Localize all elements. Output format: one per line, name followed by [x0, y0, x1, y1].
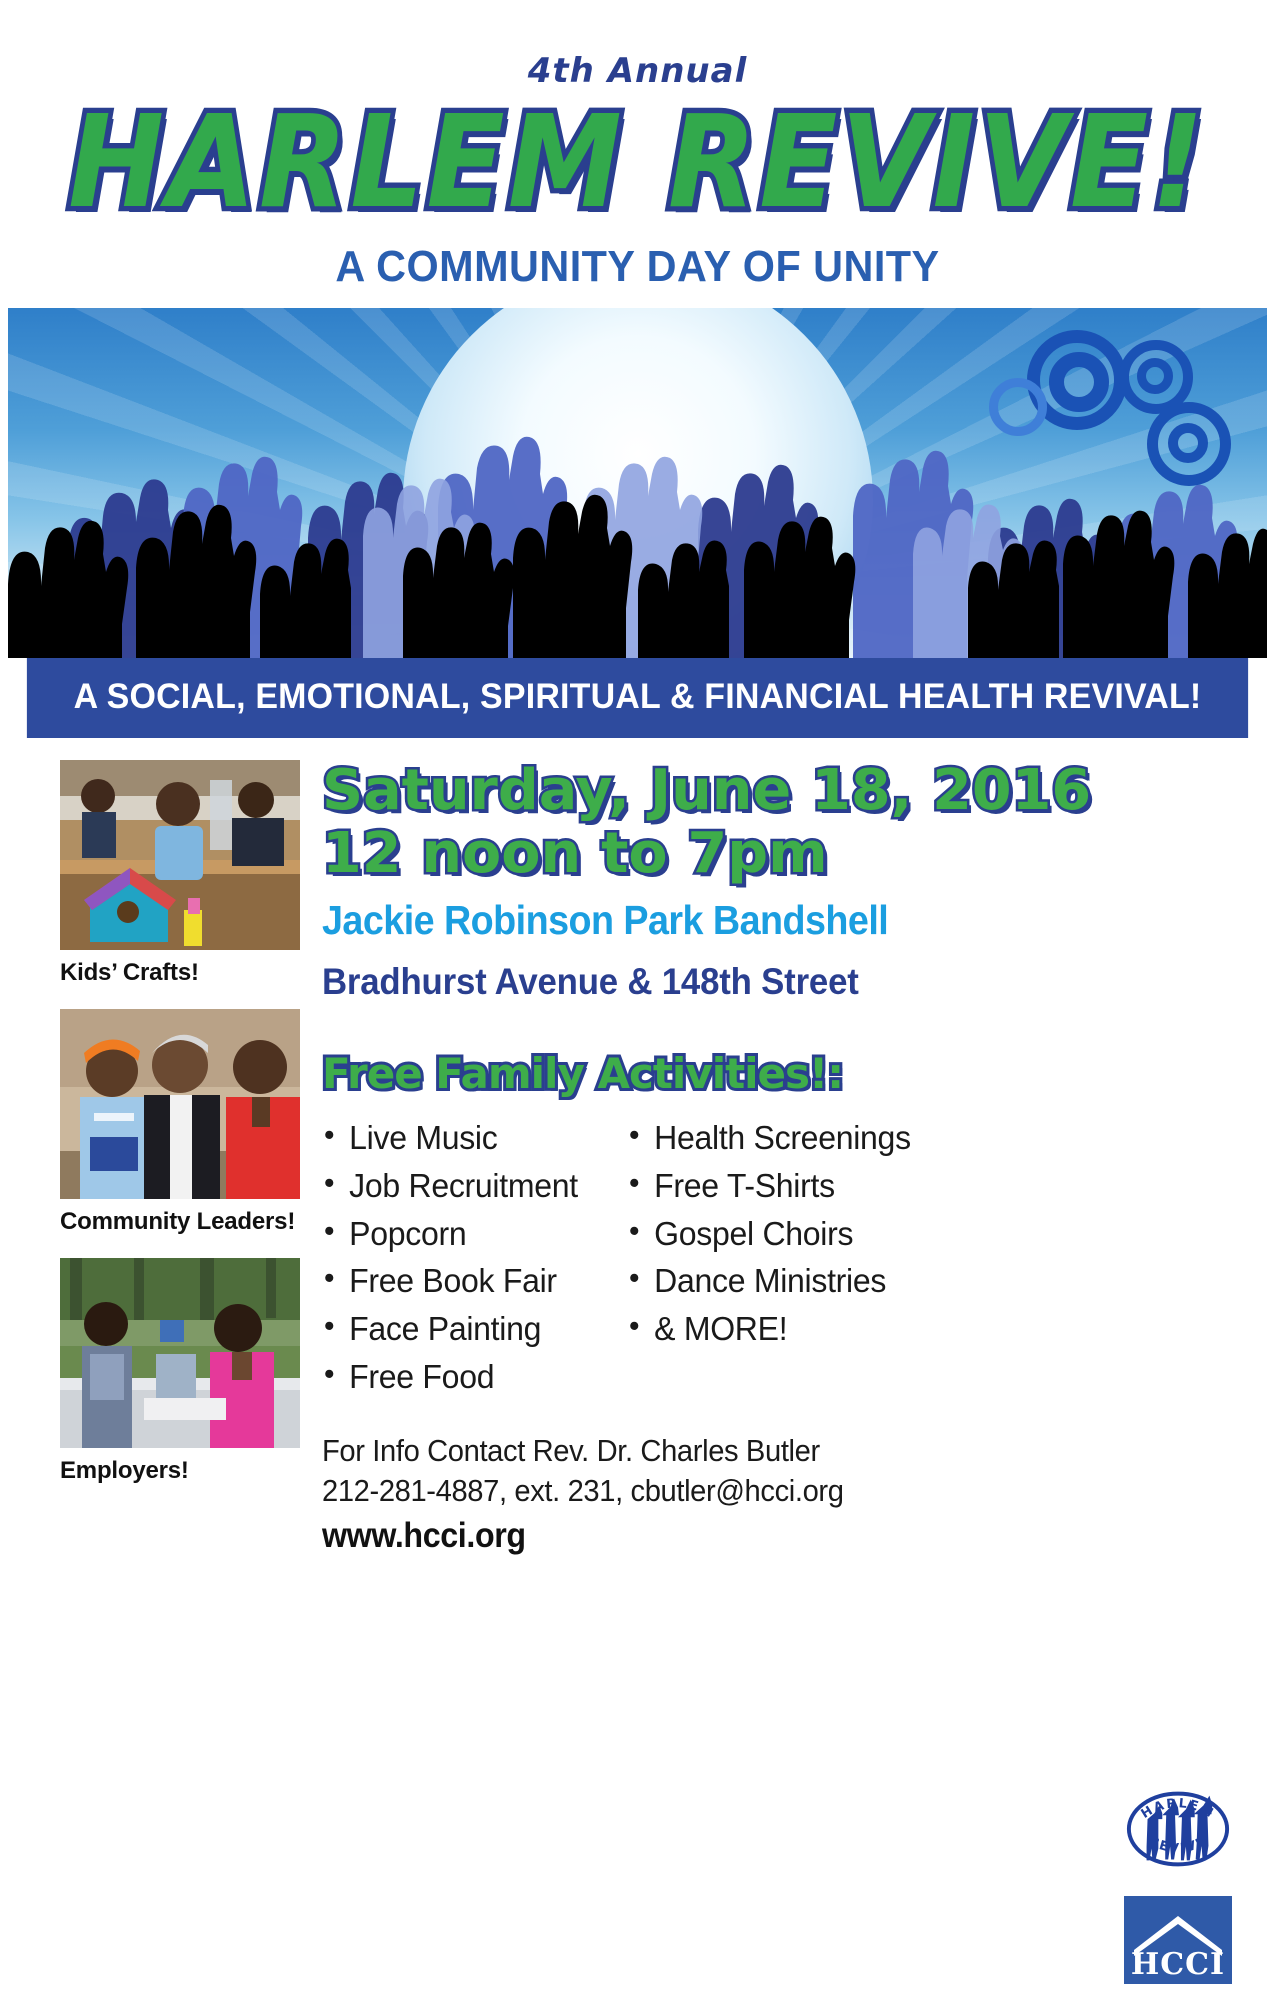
photo-caption: Community Leaders!	[60, 1199, 300, 1250]
content-column: Saturday, June 18, 2016 12 noon to 7pm J…	[322, 760, 1247, 1556]
list-item: Free T-Shirts	[627, 1162, 918, 1210]
event-date: Saturday, June 18, 2016	[322, 760, 1266, 823]
activities-column-left: Live Music Job Recruitment Popcorn Free …	[322, 1114, 627, 1401]
list-item: Gospel Choirs	[627, 1210, 918, 1258]
photo-block-employers: Employers!	[60, 1258, 300, 1499]
list-item: Job Recruitment	[322, 1162, 618, 1210]
list-item: Face Painting	[322, 1305, 618, 1353]
activity-list-right: Health Screenings Free T-Shirts Gospel C…	[627, 1114, 927, 1353]
poster-body: Kids’ Crafts!	[0, 760, 1275, 1556]
hcci-logo-icon: HCCI	[1122, 1894, 1234, 1986]
photo-column: Kids’ Crafts!	[60, 760, 300, 1556]
harlem-revive-logo-icon: HARLEM REVIVE	[1119, 1774, 1237, 1884]
website-link[interactable]: www.hcci.org	[322, 1516, 1173, 1556]
photo-block-community-leaders: Community Leaders!	[60, 1009, 300, 1250]
event-address: Bradhurst Avenue & 148th Street	[322, 959, 1192, 1005]
photo-caption: Kids’ Crafts!	[60, 950, 300, 1001]
list-item: Popcorn	[322, 1210, 618, 1258]
svg-text:HCCI: HCCI	[1131, 1947, 1225, 1982]
list-item: Dance Ministries	[627, 1257, 918, 1305]
contact-phone-email: 212-281-4887, ext. 231, cbutler@hcci.org	[322, 1471, 1192, 1511]
kids-crafts-photo	[60, 760, 300, 950]
activities-heading: Free Family Activities!:	[322, 1049, 1247, 1098]
page-title: HARLEM REVIVE!	[0, 100, 1275, 227]
raised-hands-silhouette	[8, 398, 1267, 658]
photo-block-kids-crafts: Kids’ Crafts!	[60, 760, 300, 1001]
logo-group: HARLEM REVIVE HCCI	[1103, 1774, 1253, 1986]
annual-label: 4th Annual	[0, 0, 1275, 88]
list-item: Free Food	[322, 1353, 618, 1401]
poster-root: 4th Annual HARLEM REVIVE! A COMMUNITY DA…	[0, 0, 1275, 2008]
activities-column-right: Health Screenings Free T-Shirts Gospel C…	[627, 1114, 927, 1401]
activity-list-left: Live Music Job Recruitment Popcorn Free …	[322, 1114, 627, 1401]
activities-lists: Live Music Job Recruitment Popcorn Free …	[322, 1114, 1247, 1401]
event-venue: Jackie Robinson Park Bandshell	[322, 895, 1173, 946]
list-item: Health Screenings	[627, 1114, 918, 1162]
contact-person: For Info Contact Rev. Dr. Charles Butler	[322, 1431, 1192, 1471]
contact-block: For Info Contact Rev. Dr. Charles Butler…	[322, 1431, 1247, 1556]
list-item: Live Music	[322, 1114, 618, 1162]
list-item: Free Book Fair	[322, 1257, 618, 1305]
employers-photo	[60, 1258, 300, 1448]
hero-image	[8, 308, 1267, 658]
event-time: 12 noon to 7pm	[322, 823, 1266, 886]
photo-caption: Employers!	[60, 1448, 300, 1499]
list-item: & MORE!	[627, 1305, 918, 1353]
community-leaders-photo	[60, 1009, 300, 1199]
tagline-bar: A SOCIAL, EMOTIONAL, SPIRITUAL & FINANCI…	[27, 658, 1248, 738]
page-subtitle: A COMMUNITY DAY OF UNITY	[38, 242, 1237, 292]
